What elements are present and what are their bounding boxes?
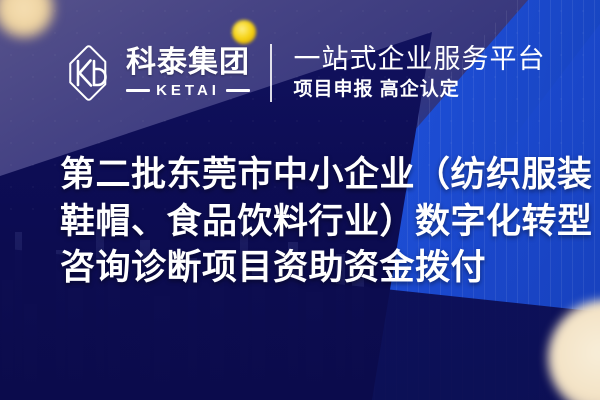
gold-dot-orb	[232, 20, 256, 44]
tagline-primary: 一站式企业服务平台	[294, 44, 546, 74]
ketai-diamond-kd-logo-icon	[58, 44, 116, 102]
banner-title-line-2: 鞋帽、食品饮料行业）数字化转型	[60, 199, 560, 246]
brand-wordmark: 科泰集团 KETAI	[126, 47, 250, 99]
banner-title-line-3: 咨询诊断项目资助资金拨付	[60, 245, 560, 292]
header-divider	[270, 44, 272, 102]
banner-title: 第二批东莞市中小企业（纺织服装 鞋帽、食品饮料行业）数字化转型 咨询诊断项目资助…	[60, 152, 560, 292]
banner-header: 科泰集团 KETAI 一站式企业服务平台 项目申报 高企认定	[0, 44, 600, 102]
tagline-secondary: 项目申报 高企认定	[294, 79, 546, 102]
promo-banner: 科泰集团 KETAI 一站式企业服务平台 项目申报 高企认定 第二批东莞市中小企…	[0, 0, 600, 400]
wordmark-dash-right	[226, 89, 250, 92]
brand-name-cn: 科泰集团	[126, 47, 250, 79]
tagline-block: 一站式企业服务平台 项目申报 高企认定	[294, 44, 546, 102]
brand-name-en-row: KETAI	[126, 82, 250, 99]
wordmark-dash-left	[126, 89, 150, 92]
banner-title-line-1: 第二批东莞市中小企业（纺织服装	[60, 152, 560, 199]
brand-name-en: KETAI	[156, 82, 220, 99]
